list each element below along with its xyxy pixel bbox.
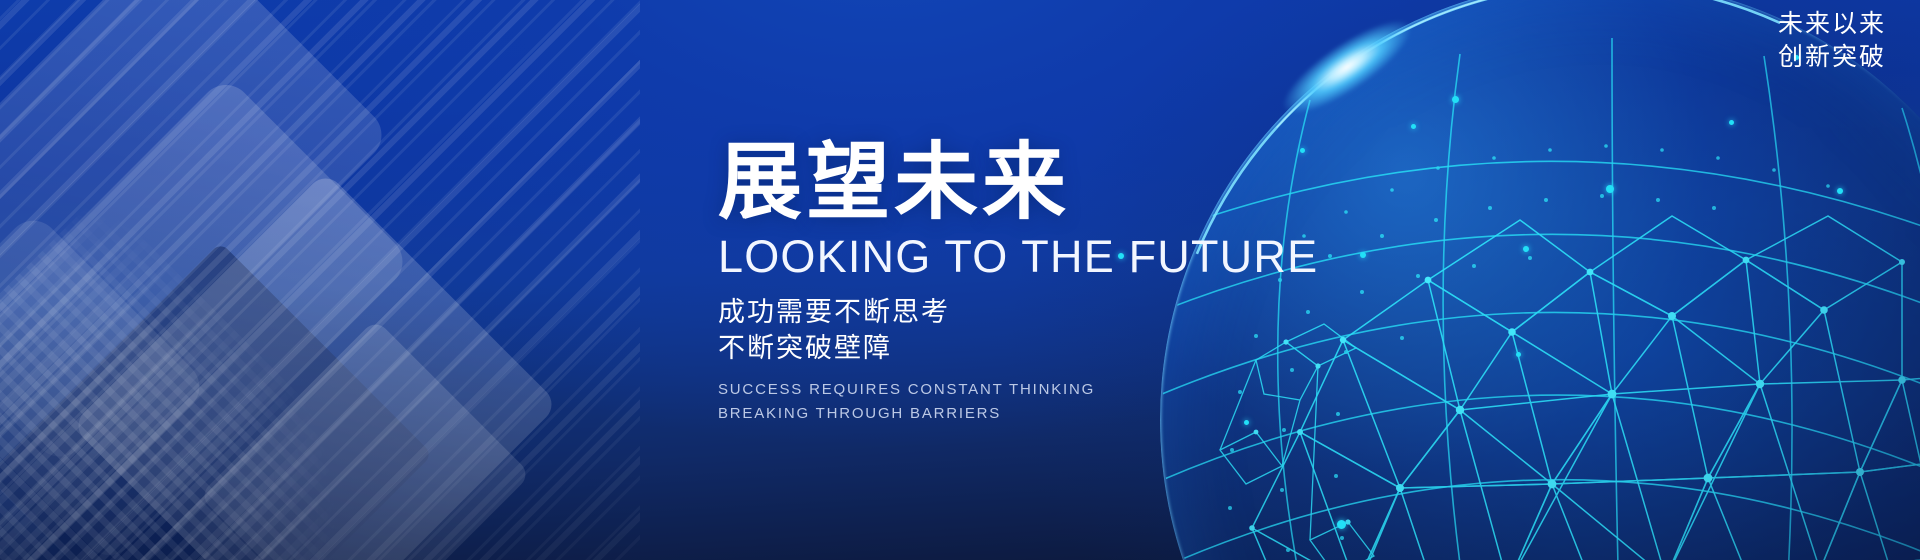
accent-dot bbox=[1606, 185, 1614, 193]
tagline-cn-line-2: 不断突破壁障 bbox=[718, 331, 1538, 367]
corner-slogan-line-2: 创新突破 bbox=[1778, 41, 1886, 74]
banner-root: 展望未来 LOOKING TO THE FUTURE 成功需要不断思考 不断突破… bbox=[0, 0, 1920, 560]
tagline-en-line-1: SUCCESS REQUIRES CONSTANT THINKING bbox=[718, 378, 1538, 401]
corner-slogan: 未来以来 创新突破 bbox=[1778, 8, 1886, 74]
tagline-en-line-2: BREAKING THROUGH BARRIERS bbox=[718, 402, 1538, 425]
corner-slogan-line-1: 未来以来 bbox=[1778, 8, 1886, 41]
left-geometric-decoration bbox=[0, 0, 640, 560]
accent-dot bbox=[1837, 188, 1843, 194]
tagline-cn-line-1: 成功需要不断思考 bbox=[718, 295, 1538, 331]
accent-dot bbox=[1411, 124, 1416, 129]
accent-dot bbox=[1452, 96, 1459, 103]
accent-dot bbox=[1337, 520, 1346, 529]
tagline-en-block: SUCCESS REQUIRES CONSTANT THINKING BREAK… bbox=[718, 378, 1538, 425]
diagonal-stripes-fine bbox=[0, 0, 640, 560]
page-subtitle-english: LOOKING TO THE FUTURE bbox=[718, 234, 1538, 279]
accent-dot bbox=[1729, 120, 1734, 125]
page-title: 展望未来 bbox=[718, 140, 1538, 224]
hero-copy-block: 展望未来 LOOKING TO THE FUTURE 成功需要不断思考 不断突破… bbox=[718, 140, 1538, 425]
